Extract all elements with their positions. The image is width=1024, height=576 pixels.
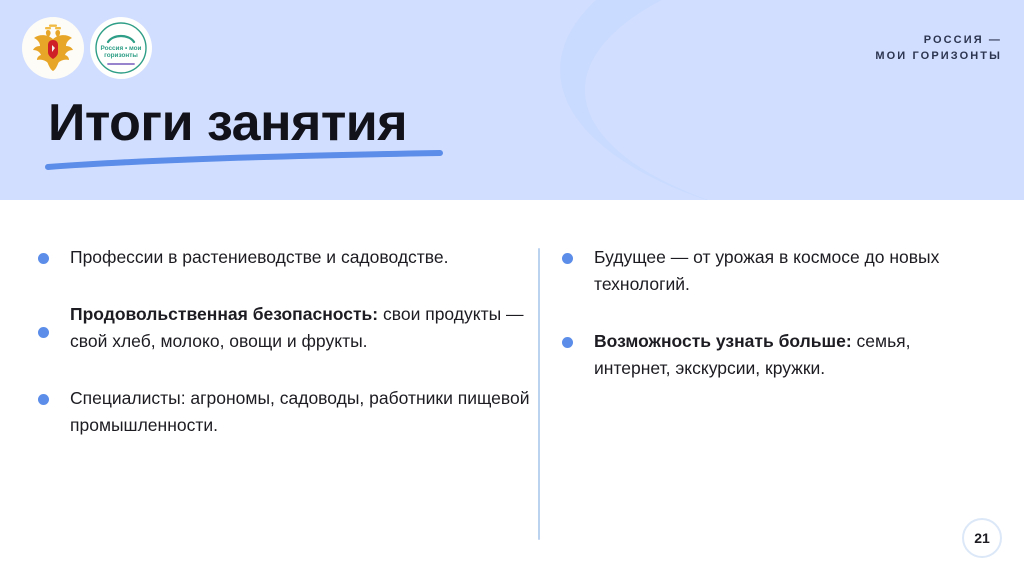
bullet-body: Будущее — от урожая в космосе до новых т…: [594, 247, 939, 294]
list-item: Специалисты: агрономы, садоводы, работни…: [38, 385, 530, 439]
list-item: Возможность узнать больше: семья, интерн…: [562, 328, 982, 382]
header-arc-shape-small-inner: [585, 0, 1024, 200]
bullet-text: Профессии в растениеводстве и садоводств…: [70, 244, 449, 271]
bullet-text: Возможность узнать больше: семья, интерн…: [594, 328, 982, 382]
svg-text:Россия • мои: Россия • мои: [101, 45, 142, 52]
title-underline-swoosh: [44, 150, 444, 172]
list-item: Профессии в растениеводстве и садоводств…: [38, 244, 530, 271]
bullet-dot-icon: [38, 394, 49, 405]
bullet-body: Профессии в растениеводстве и садоводств…: [70, 247, 449, 267]
bullet-dot-icon: [562, 337, 573, 348]
bullet-dot-icon: [38, 327, 49, 338]
left-column: Профессии в растениеводстве и садоводств…: [38, 244, 530, 469]
page-number-badge: 21: [962, 518, 1002, 558]
list-item: Продовольственная безопасность: свои про…: [38, 301, 530, 355]
svg-text:горизонты: горизонты: [104, 52, 138, 59]
bullet-dot-icon: [562, 253, 573, 264]
bullet-text: Специалисты: агрономы, садоводы, работни…: [70, 385, 530, 439]
bullet-lead: Возможность узнать больше:: [594, 331, 852, 351]
column-divider: [538, 248, 540, 540]
russia-coat-of-arms-logo: [22, 17, 84, 79]
brand-caption: РОССИЯ — МОИ ГОРИЗОНТЫ: [875, 32, 1002, 64]
bullet-body: Специалисты: агрономы, садоводы, работни…: [70, 388, 530, 435]
bullet-text: Будущее — от урожая в космосе до новых т…: [594, 244, 982, 298]
page-title: Итоги занятия: [48, 94, 407, 152]
bullet-text: Продовольственная безопасность: свои про…: [70, 301, 530, 355]
logo-group: Россия • мои горизонты: [22, 17, 152, 79]
slide-root: Россия • мои горизонты РОССИЯ — МОИ ГОРИ…: [0, 0, 1024, 576]
right-column: Будущее — от урожая в космосе до новых т…: [562, 244, 982, 412]
slide-body: Профессии в растениеводстве и садоводств…: [0, 200, 1024, 576]
list-item: Будущее — от урожая в космосе до новых т…: [562, 244, 982, 298]
rossiya-moi-gorizonty-logo: Россия • мои горизонты: [90, 17, 152, 79]
bullet-lead: Продовольственная безопасность:: [70, 304, 378, 324]
bullet-dot-icon: [38, 253, 49, 264]
